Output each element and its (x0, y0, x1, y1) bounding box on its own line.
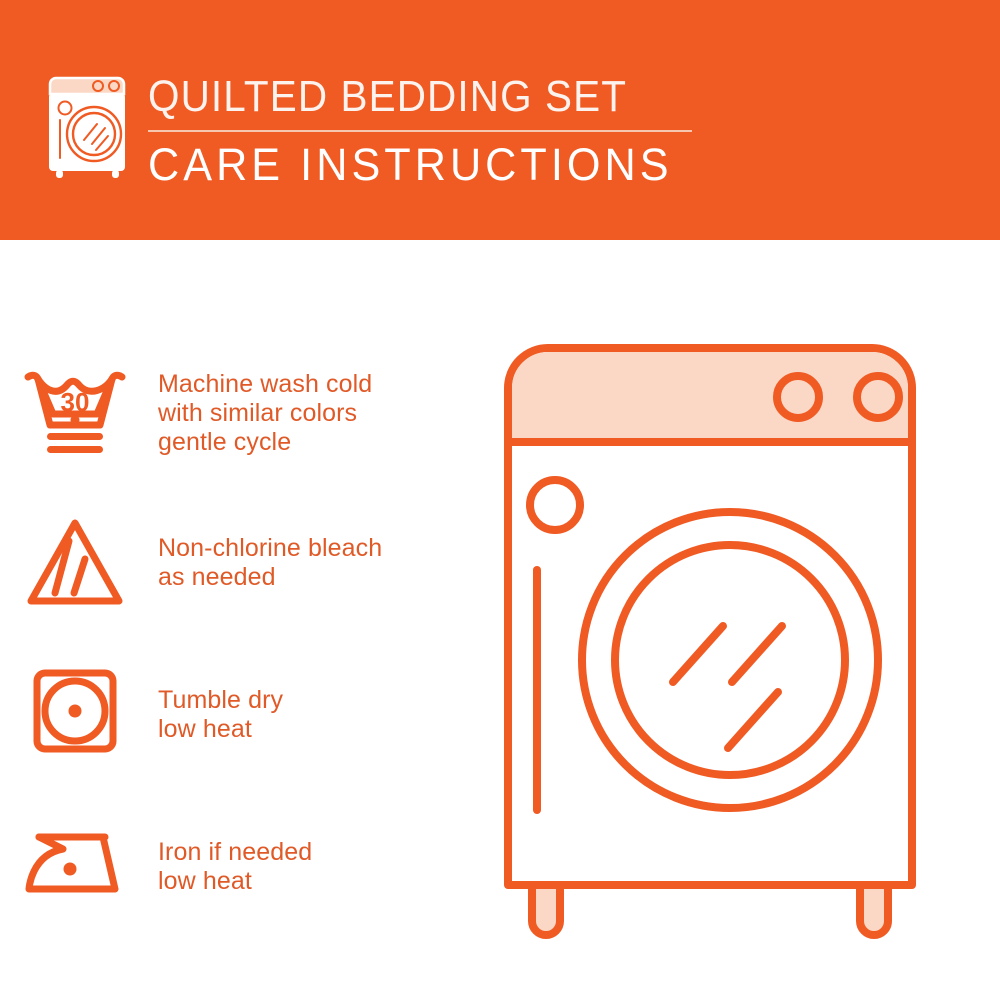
care-instructions-page: QUILTED BEDDING SET CARE INSTRUCTIONS 30 (0, 0, 1000, 1000)
control-panel (512, 352, 908, 442)
wash-temperature-label: 30 (61, 387, 90, 417)
care-line: Non-chlorine bleach (158, 534, 382, 563)
care-line: Machine wash cold (158, 370, 372, 399)
care-text-tumble-dry: Tumble dry low heat (150, 686, 283, 744)
care-line: Tumble dry (158, 686, 283, 715)
non-chlorine-bleach-triangle-icon (0, 498, 150, 628)
washing-machine-illustration (470, 310, 980, 940)
iron-low-heat-icon (0, 802, 150, 932)
page-subtitle: CARE INSTRUCTIONS (148, 136, 686, 194)
care-line: low heat (158, 715, 283, 744)
care-line: gentle cycle (158, 428, 372, 457)
care-line: Iron if needed (158, 838, 312, 867)
tumble-dry-low-heat-icon (0, 650, 150, 780)
care-line: low heat (158, 867, 312, 896)
care-text-machine-wash: Machine wash cold with similar colors ge… (150, 370, 372, 457)
care-row-machine-wash: 30 Machine wash cold with similar colors… (0, 338, 480, 488)
title-divider (148, 130, 692, 132)
care-line: as needed (158, 563, 382, 592)
header-title-block: QUILTED BEDDING SET CARE INSTRUCTIONS (148, 70, 708, 194)
care-text-iron: Iron if needed low heat (150, 838, 312, 896)
care-row-bleach: Non-chlorine bleach as needed (0, 488, 480, 638)
header-banner: QUILTED BEDDING SET CARE INSTRUCTIONS (0, 0, 1000, 240)
care-row-iron: Iron if needed low heat (0, 792, 480, 942)
page-title: QUILTED BEDDING SET (148, 70, 663, 124)
care-row-tumble-dry: Tumble dry low heat (0, 640, 480, 790)
washing-machine-logo-icon (44, 72, 140, 180)
care-instruction-list: 30 Machine wash cold with similar colors… (0, 240, 480, 1000)
machine-leg-left (532, 885, 560, 935)
care-line: with similar colors (158, 399, 372, 428)
machine-wash-30-gentle-icon: 30 (0, 348, 150, 478)
care-text-bleach: Non-chlorine bleach as needed (150, 534, 382, 592)
machine-leg-right (860, 885, 888, 935)
